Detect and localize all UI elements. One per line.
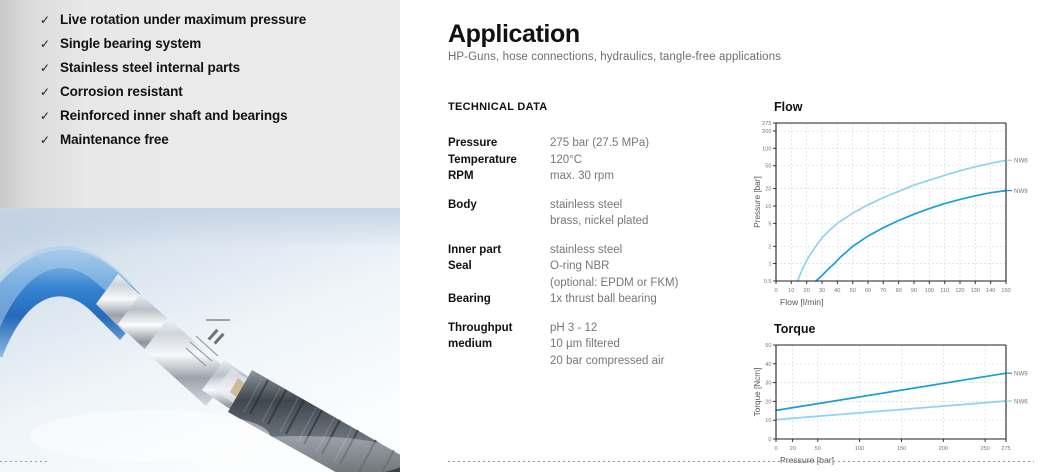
page-subtitle: HP-Guns, hose connections, hydraulics, t… (448, 51, 781, 63)
table-cell-value: 120°C (550, 152, 582, 169)
flow-chart-title: Flow (736, 100, 1046, 114)
feature-label: Corrosion resistant (60, 84, 183, 100)
torque-chart: 0205010015020025027501020304050NW9NW6Tor… (736, 339, 1046, 472)
feature-item: ✓Corrosion resistant (40, 84, 390, 100)
page-title: Application (448, 20, 580, 49)
technical-data-group: ThroughputpH 3 - 12medium10 µm filtered2… (448, 320, 728, 370)
product-photo-illustration (0, 208, 400, 472)
svg-text:0: 0 (774, 288, 777, 294)
svg-text:50: 50 (765, 343, 771, 349)
svg-text:Pressure [bar]: Pressure [bar] (753, 176, 762, 227)
technical-data-table: Pressure275 bar (27.5 MPa)Temperature120… (448, 135, 728, 381)
table-cell-value: max. 30 rpm (550, 168, 614, 185)
svg-text:50: 50 (765, 164, 771, 170)
svg-text:250: 250 (980, 446, 989, 452)
table-cell-value: stainless steel (550, 197, 648, 214)
table-row-values: 120°C (550, 152, 582, 169)
technical-data-heading: TECHNICAL DATA (448, 101, 548, 113)
check-icon: ✓ (40, 86, 51, 98)
feature-label: Maintenance free (60, 132, 169, 148)
svg-text:110: 110 (940, 288, 949, 294)
table-row: ThroughputpH 3 - 12 (448, 320, 728, 337)
torque-chart-title: Torque (736, 322, 1046, 336)
table-row-label: Throughput (448, 320, 550, 337)
svg-text:Pressure [bar]: Pressure [bar] (780, 455, 834, 465)
table-row-values: 10 µm filtered20 bar compressed air (550, 336, 664, 369)
svg-text:Flow [l/min]: Flow [l/min] (780, 297, 823, 307)
product-photo (0, 208, 400, 472)
table-row-label: Pressure (448, 135, 550, 152)
svg-text:275: 275 (762, 121, 771, 127)
check-icon: ✓ (40, 110, 51, 122)
svg-text:50: 50 (815, 446, 821, 452)
svg-text:200: 200 (762, 129, 771, 135)
svg-text:200: 200 (939, 446, 948, 452)
svg-text:150: 150 (897, 446, 906, 452)
svg-text:70: 70 (880, 288, 886, 294)
table-row: Bearing1x thrust ball bearing (448, 291, 728, 308)
svg-text:Torque [Ncm]: Torque [Ncm] (753, 368, 762, 417)
svg-text:50: 50 (850, 288, 856, 294)
table-cell-value: 10 µm filtered (550, 336, 664, 353)
svg-text:NW6: NW6 (1014, 398, 1028, 405)
table-row-values: max. 30 rpm (550, 168, 614, 185)
svg-text:20: 20 (804, 288, 810, 294)
svg-text:NW9: NW9 (1014, 188, 1028, 195)
svg-text:1: 1 (768, 262, 771, 268)
flow-chart: 01020304050607080901001101201301401500.5… (736, 117, 1046, 322)
left-column: ✓Live rotation under maximum pressure✓Si… (0, 0, 400, 472)
feature-item: ✓Live rotation under maximum pressure (40, 12, 390, 28)
svg-text:NW6: NW6 (1014, 158, 1028, 165)
technical-data-group: Pressure275 bar (27.5 MPa)Temperature120… (448, 135, 728, 185)
svg-text:40: 40 (834, 288, 840, 294)
check-icon: ✓ (40, 134, 51, 146)
product-datasheet-page: ✓Live rotation under maximum pressure✓Si… (0, 0, 1046, 472)
feature-label: Single bearing system (60, 36, 201, 52)
table-cell-value: (optional: EPDM or FKM) (550, 275, 678, 292)
svg-text:80: 80 (896, 288, 902, 294)
svg-text:30: 30 (819, 288, 825, 294)
table-cell-value: stainless steel (550, 242, 622, 259)
svg-text:10: 10 (765, 418, 771, 424)
svg-text:140: 140 (986, 288, 995, 294)
table-row-label: Bearing (448, 291, 550, 308)
feature-label: Reinforced inner shaft and bearings (60, 108, 288, 124)
feature-item: ✓Reinforced inner shaft and bearings (40, 108, 390, 124)
svg-text:100: 100 (855, 446, 864, 452)
table-row-values: 275 bar (27.5 MPa) (550, 135, 649, 152)
svg-text:NW9: NW9 (1014, 371, 1028, 378)
table-row: RPMmax. 30 rpm (448, 168, 728, 185)
svg-text:30: 30 (765, 381, 771, 387)
check-icon: ✓ (40, 38, 51, 50)
check-icon: ✓ (40, 62, 51, 74)
table-row-label: Body (448, 197, 550, 230)
table-row-values: stainless steelbrass, nickel plated (550, 197, 648, 230)
flow-chart-block: Flow 01020304050607080901001101201301401… (736, 100, 1046, 322)
table-row: Temperature120°C (448, 152, 728, 169)
torque-chart-block: Torque 0205010015020025027501020304050NW… (736, 322, 1046, 472)
table-row: Inner partstainless steel (448, 242, 728, 259)
table-row-label: RPM (448, 168, 550, 185)
feature-list: ✓Live rotation under maximum pressure✓Si… (40, 12, 390, 156)
table-row-values: stainless steel (550, 242, 622, 259)
svg-text:40: 40 (765, 362, 771, 368)
table-cell-value: brass, nickel plated (550, 213, 648, 230)
table-row-label: medium (448, 336, 550, 369)
table-cell-value: pH 3 - 12 (550, 320, 597, 337)
svg-text:275: 275 (1001, 446, 1010, 452)
right-column: Application HP-Guns, hose connections, h… (400, 0, 1046, 472)
table-row-label: Seal (448, 258, 550, 291)
table-row-label: Temperature (448, 152, 550, 169)
svg-text:5: 5 (768, 221, 771, 227)
table-cell-value: 20 bar compressed air (550, 353, 664, 370)
table-row: medium10 µm filtered20 bar compressed ai… (448, 336, 728, 369)
svg-text:2: 2 (768, 244, 771, 250)
table-row-label: Inner part (448, 242, 550, 259)
table-cell-value: 275 bar (27.5 MPa) (550, 135, 649, 152)
svg-text:100: 100 (762, 146, 771, 152)
svg-text:120: 120 (955, 288, 964, 294)
table-row-values: O-ring NBR(optional: EPDM or FKM) (550, 258, 678, 291)
check-icon: ✓ (40, 14, 51, 26)
table-row: Pressure275 bar (27.5 MPa) (448, 135, 728, 152)
svg-text:10: 10 (765, 204, 771, 210)
feature-item: ✓Single bearing system (40, 36, 390, 52)
footer-divider (448, 461, 1034, 462)
svg-text:0: 0 (768, 437, 771, 443)
svg-text:10: 10 (788, 288, 794, 294)
table-cell-value: O-ring NBR (550, 258, 678, 275)
feature-item: ✓Stainless steel internal parts (40, 60, 390, 76)
technical-data-group: Inner partstainless steelSealO-ring NBR(… (448, 242, 728, 308)
svg-text:20: 20 (790, 446, 796, 452)
footer-divider-left (0, 461, 48, 462)
svg-text:100: 100 (925, 288, 934, 294)
svg-text:150: 150 (1001, 288, 1010, 294)
svg-text:20: 20 (765, 399, 771, 405)
svg-text:90: 90 (911, 288, 917, 294)
table-row: SealO-ring NBR(optional: EPDM or FKM) (448, 258, 728, 291)
feature-item: ✓Maintenance free (40, 132, 390, 148)
svg-text:60: 60 (865, 288, 871, 294)
table-cell-value: 1x thrust ball bearing (550, 291, 657, 308)
svg-text:20: 20 (765, 187, 771, 193)
table-row-values: pH 3 - 12 (550, 320, 597, 337)
table-row: Bodystainless steelbrass, nickel plated (448, 197, 728, 230)
table-row-values: 1x thrust ball bearing (550, 291, 657, 308)
svg-text:0.5: 0.5 (764, 279, 772, 285)
feature-label: Live rotation under maximum pressure (60, 12, 306, 28)
svg-text:0: 0 (774, 446, 777, 452)
feature-label: Stainless steel internal parts (60, 60, 240, 76)
technical-data-group: Bodystainless steelbrass, nickel plated (448, 197, 728, 230)
svg-text:130: 130 (971, 288, 980, 294)
features-panel: ✓Live rotation under maximum pressure✓Si… (0, 0, 400, 208)
